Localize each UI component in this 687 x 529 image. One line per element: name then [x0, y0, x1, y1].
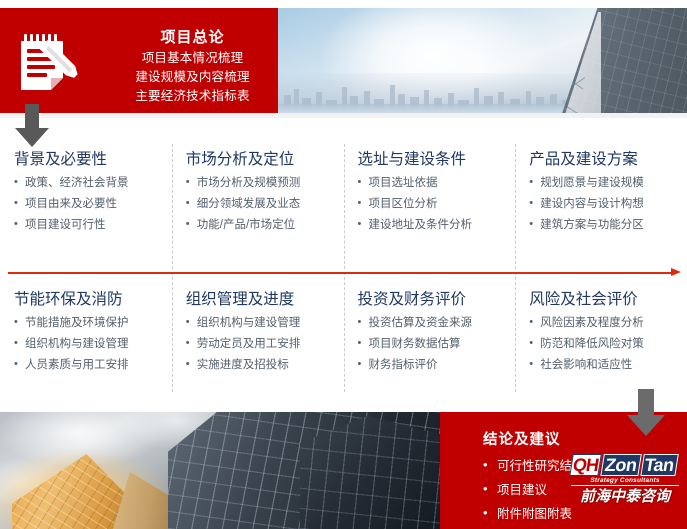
- topic-item[interactable]: 投资估算及资金来源: [358, 313, 514, 334]
- topic-item-list: 节能措施及环境保护 组织机构与建设管理 人员素质与用工安排: [14, 313, 170, 376]
- logo-tagline: Strategy Consultants: [571, 476, 679, 486]
- city-skyline-photo: [278, 8, 687, 113]
- topic-item[interactable]: 项目选址依据: [358, 173, 514, 194]
- topic-item[interactable]: 组织机构与建设管理: [186, 313, 342, 334]
- header-subtitle-1: 项目基本情况梳理: [110, 49, 275, 68]
- topic-item[interactable]: 功能/产品/市场定位: [186, 215, 342, 236]
- topic-cell-energy[interactable]: 节能环保及消防 节能措施及环境保护 组织机构与建设管理 人员素质与用工安排: [0, 290, 172, 395]
- topic-item[interactable]: 建筑方案与功能分区: [529, 215, 685, 236]
- footer-item[interactable]: 附件附图附表: [483, 502, 585, 526]
- header-band: 项目总论 项目基本情况梳理 建设规模及内容梳理 主要经济技术指标表: [0, 8, 687, 113]
- topic-item[interactable]: 项目由来及必要性: [14, 194, 170, 215]
- topic-item-list: 政策、经济社会背景 项目由来及必要性 项目建设可行性: [14, 173, 170, 236]
- header-text-block: 项目总论 项目基本情况梳理 建设规模及内容梳理 主要经济技术指标表: [110, 28, 275, 106]
- topic-item[interactable]: 劳动定员及用工安排: [186, 334, 342, 355]
- topic-item[interactable]: 项目区位分析: [358, 194, 514, 215]
- header-subtitle-2: 建设规模及内容梳理: [110, 68, 275, 87]
- topic-title: 风险及社会评价: [529, 290, 685, 309]
- topic-title: 投资及财务评价: [358, 290, 514, 309]
- topic-item-list: 组织机构与建设管理 劳动定员及用工安排 实施进度及招投标: [186, 313, 342, 376]
- header-red-panel: 项目总论 项目基本情况梳理 建设规模及内容梳理 主要经济技术指标表: [0, 8, 278, 113]
- distant-skyline: [278, 73, 578, 113]
- topic-item[interactable]: 风险因素及程度分析: [529, 313, 685, 334]
- footer-title: 结论及建议: [483, 428, 561, 449]
- logo-company-name-cn: 前海中泰咨询: [571, 488, 679, 506]
- topic-title: 组织管理及进度: [186, 290, 342, 309]
- topic-item[interactable]: 细分领域发展及业态: [186, 194, 342, 215]
- header-gap-strip: [0, 113, 687, 118]
- topic-cell-background[interactable]: 背景及必要性 政策、经济社会背景 项目由来及必要性 项目建设可行性: [0, 150, 172, 262]
- topic-item-list: 规划愿景与建设规模 建设内容与设计构想 建筑方案与功能分区: [529, 173, 685, 236]
- divider-line: [8, 272, 671, 274]
- waterfront: [278, 104, 578, 113]
- topic-item[interactable]: 人员素质与用工安排: [14, 355, 170, 376]
- topic-item[interactable]: 项目建设可行性: [14, 215, 170, 236]
- down-arrow-icon: [626, 389, 666, 437]
- logo-wordmark: QH Zon Tan: [569, 455, 680, 476]
- header-title: 项目总论: [110, 28, 275, 48]
- topic-cell-organization[interactable]: 组织管理及进度 组织机构与建设管理 劳动定员及用工安排 实施进度及招投标: [172, 290, 344, 395]
- slide-canvas: 项目总论 项目基本情况梳理 建设规模及内容梳理 主要经济技术指标表 背景及必要性…: [0, 0, 687, 529]
- skyscraper-photo: [0, 412, 440, 529]
- header-subtitle-3: 主要经济技术指标表: [110, 87, 275, 106]
- logo-zon-mark: Zon: [600, 454, 641, 476]
- topic-cell-market[interactable]: 市场分析及定位 市场分析及规模预测 细分领域发展及业态 功能/产品/市场定位: [172, 150, 344, 262]
- topic-item[interactable]: 规划愿景与建设规模: [529, 173, 685, 194]
- topic-item[interactable]: 财务指标评价: [358, 355, 514, 376]
- topic-cell-risk[interactable]: 风险及社会评价 风险因素及程度分析 防范和降低风险对策 社会影响和适应性: [515, 290, 687, 395]
- topic-cell-site[interactable]: 选址与建设条件 项目选址依据 项目区位分析 建设地址及条件分析: [344, 150, 516, 262]
- arrow-right-icon: [671, 268, 681, 276]
- topic-item[interactable]: 项目财务数据估算: [358, 334, 514, 355]
- topic-title: 产品及建设方案: [529, 150, 685, 169]
- topic-row-top: 背景及必要性 政策、经济社会背景 项目由来及必要性 项目建设可行性 市场分析及定…: [0, 150, 687, 262]
- topic-item[interactable]: 防范和降低风险对策: [529, 334, 685, 355]
- logo-qh-mark: QH: [569, 454, 601, 476]
- topic-title: 市场分析及定位: [186, 150, 342, 169]
- topic-item-list: 投资估算及资金来源 项目财务数据估算 财务指标评价: [358, 313, 514, 376]
- topic-item[interactable]: 社会影响和适应性: [529, 355, 685, 376]
- topic-item[interactable]: 市场分析及规模预测: [186, 173, 342, 194]
- topic-item-list: 风险因素及程度分析 防范和降低风险对策 社会影响和适应性: [529, 313, 685, 376]
- notepad-pencil-icon: [18, 34, 92, 96]
- footer-item-list: 可行性研究结论 项目建议 附件附图附表: [483, 454, 585, 526]
- topic-cell-product[interactable]: 产品及建设方案 规划愿景与建设规模 建设内容与设计构想 建筑方案与功能分区: [515, 150, 687, 262]
- down-arrow-icon: [14, 104, 50, 148]
- footer-item[interactable]: 项目建议: [483, 478, 585, 502]
- topic-item[interactable]: 组织机构与建设管理: [14, 334, 170, 355]
- logo-tan-mark: Tan: [640, 454, 679, 476]
- topic-item-list: 市场分析及规模预测 细分领域发展及业态 功能/产品/市场定位: [186, 173, 342, 236]
- topic-item-list: 项目选址依据 项目区位分析 建设地址及条件分析: [358, 173, 514, 236]
- topic-title: 节能环保及消防: [14, 290, 170, 309]
- company-logo[interactable]: QH Zon Tan Strategy Consultants 前海中泰咨询: [571, 455, 679, 505]
- topic-title: 背景及必要性: [14, 150, 170, 169]
- red-arrow-divider: [8, 268, 681, 278]
- topic-item[interactable]: 实施进度及招投标: [186, 355, 342, 376]
- topic-item[interactable]: 政策、经济社会背景: [14, 173, 170, 194]
- topic-item[interactable]: 节能措施及环境保护: [14, 313, 170, 334]
- topic-cell-investment[interactable]: 投资及财务评价 投资估算及资金来源 项目财务数据估算 财务指标评价: [344, 290, 516, 395]
- topic-title: 选址与建设条件: [358, 150, 514, 169]
- topic-item[interactable]: 建设地址及条件分析: [358, 215, 514, 236]
- topic-row-bottom: 节能环保及消防 节能措施及环境保护 组织机构与建设管理 人员素质与用工安排 组织…: [0, 290, 687, 395]
- topic-item[interactable]: 建设内容与设计构想: [529, 194, 685, 215]
